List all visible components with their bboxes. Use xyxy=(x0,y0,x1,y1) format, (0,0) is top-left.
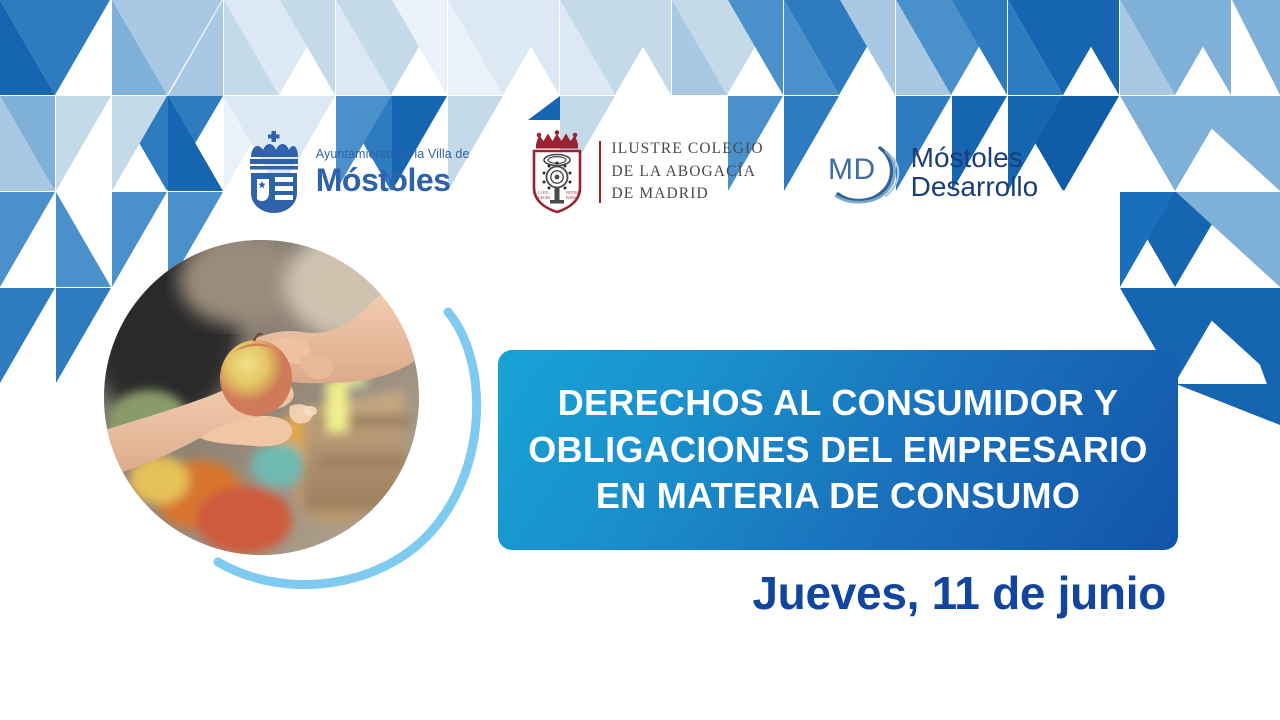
title-line-1: DERECHOS AL CONSUMIDOR Y xyxy=(558,380,1119,426)
mostoles-shield-icon xyxy=(242,129,306,215)
event-date: Jueves, 11 de junio xyxy=(498,566,1178,620)
ayuntamiento-wordmark: Móstoles xyxy=(316,164,470,196)
logo-ayuntamiento-mostoles: Ayuntamiento de la Villa de Móstoles xyxy=(242,129,470,215)
abogacia-line-3: DE MADRID xyxy=(612,183,764,205)
md-monogram: MD xyxy=(828,153,876,186)
photo-area xyxy=(96,232,496,622)
photo-illustration xyxy=(104,240,419,555)
title-line-2: OBLIGACIONES DEL EMPRESARIO xyxy=(528,427,1148,473)
md-swoosh-icon: MD xyxy=(820,132,902,212)
abogacia-line-2: DE LA ABOGACÍA xyxy=(612,161,764,183)
svg-text:IURIS: IURIS xyxy=(566,195,576,200)
logo-ilustre-colegio-abogacia: I·LEX LEGES NOTRA IURIS ILUSTRE COLEGIO … xyxy=(526,130,764,214)
market-apple-handoff-photo xyxy=(104,240,419,555)
abogacia-crest-icon: I·LEX LEGES NOTRA IURIS xyxy=(526,130,588,214)
title-line-3: EN MATERIA DE CONSUMO xyxy=(596,473,1080,519)
logo-mostoles-desarrollo: MD Móstoles Desarrollo xyxy=(820,132,1039,212)
title-banner: DERECHOS AL CONSUMIDOR Y OBLIGACIONES DE… xyxy=(498,350,1178,550)
abogacia-wordmark: ILUSTRE COLEGIO DE LA ABOGACÍA DE MADRID xyxy=(612,138,764,205)
desarrollo-line-1: Móstoles xyxy=(911,143,1039,172)
event-poster: Ayuntamiento de la Villa de Móstoles xyxy=(0,0,1280,720)
desarrollo-line-2: Desarrollo xyxy=(911,172,1039,201)
abogacia-line-1: ILUSTRE COLEGIO xyxy=(612,138,764,160)
svg-text:LEGES: LEGES xyxy=(538,195,550,200)
ayuntamiento-superline: Ayuntamiento de la Villa de xyxy=(316,148,470,161)
desarrollo-wordmark: Móstoles Desarrollo xyxy=(911,143,1039,201)
logo-row: Ayuntamiento de la Villa de Móstoles xyxy=(0,122,1280,222)
abogacia-divider xyxy=(599,141,601,203)
